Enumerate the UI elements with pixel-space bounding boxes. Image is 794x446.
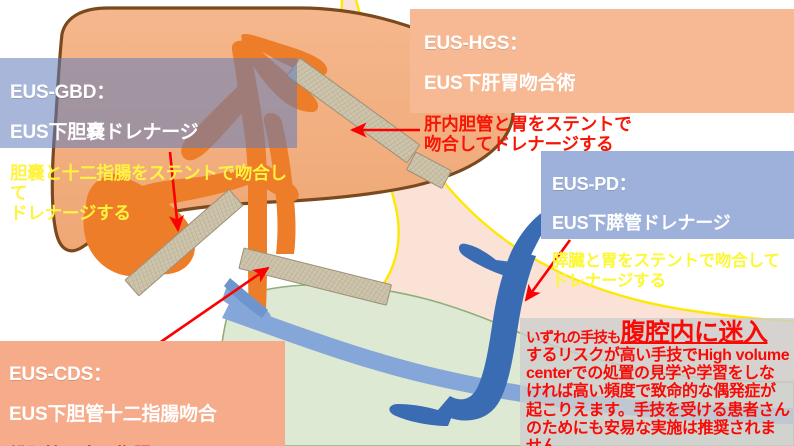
warning-body: するリスクが高い手技でHigh volume centerでの処置の見学や学習を… xyxy=(526,347,790,446)
callout-gbd-subtitle: EUS下胆嚢ドレナージ xyxy=(10,122,297,144)
callout-cds-title: EUS-CDS： xyxy=(9,364,285,386)
callout-eus-gbd: EUS-GBD： EUS下胆嚢ドレナージ 胆嚢と十二指腸をステントで吻合して ド… xyxy=(0,58,297,148)
warning-headline: いずれの手技も腹腔内に迷入 xyxy=(526,321,790,346)
callout-hgs-body: 肝内胆管と胃をステントで 吻合してドレナージする xyxy=(424,114,794,155)
callout-eus-cds: EUS-CDS： EUS下胆管十二指腸吻合 総胆管と十二指腸をステントで 吻合し… xyxy=(0,341,285,446)
callout-pd-title: EUS-PD： xyxy=(552,174,794,195)
callout-gbd-body: 胆嚢と十二指腸をステントで吻合して ドレナージする xyxy=(10,163,297,224)
warning-note: いずれの手技も腹腔内に迷入 するリスクが高い手技でHigh volume cen… xyxy=(520,318,794,446)
callout-eus-hgs: EUS-HGS： EUS下肝胃吻合術 肝内胆管と胃をステントで 吻合してドレナー… xyxy=(410,9,794,113)
callout-eus-pd: EUS-PD： EUS下膵管ドレナージ 膵臓と胃をステントで吻合して ドレナージ… xyxy=(541,151,794,239)
callout-hgs-title: EUS-HGS： xyxy=(424,33,794,55)
callout-hgs-subtitle: EUS下肝胃吻合術 xyxy=(424,73,794,95)
callout-pd-body: 膵臓と胃をステントで吻合して ドレナージする xyxy=(552,252,794,290)
warning-emphasis: 腹腔内に迷入 xyxy=(621,319,768,347)
warning-lead: いずれの手技も xyxy=(526,331,621,347)
callout-gbd-title: EUS-GBD： xyxy=(10,82,297,104)
diagram-canvas: EUS-GBD： EUS下胆嚢ドレナージ 胆嚢と十二指腸をステントで吻合して ド… xyxy=(0,0,794,446)
callout-pd-subtitle: EUS下膵管ドレナージ xyxy=(552,213,794,234)
callout-cds-subtitle: EUS下胆管十二指腸吻合 xyxy=(9,404,285,426)
